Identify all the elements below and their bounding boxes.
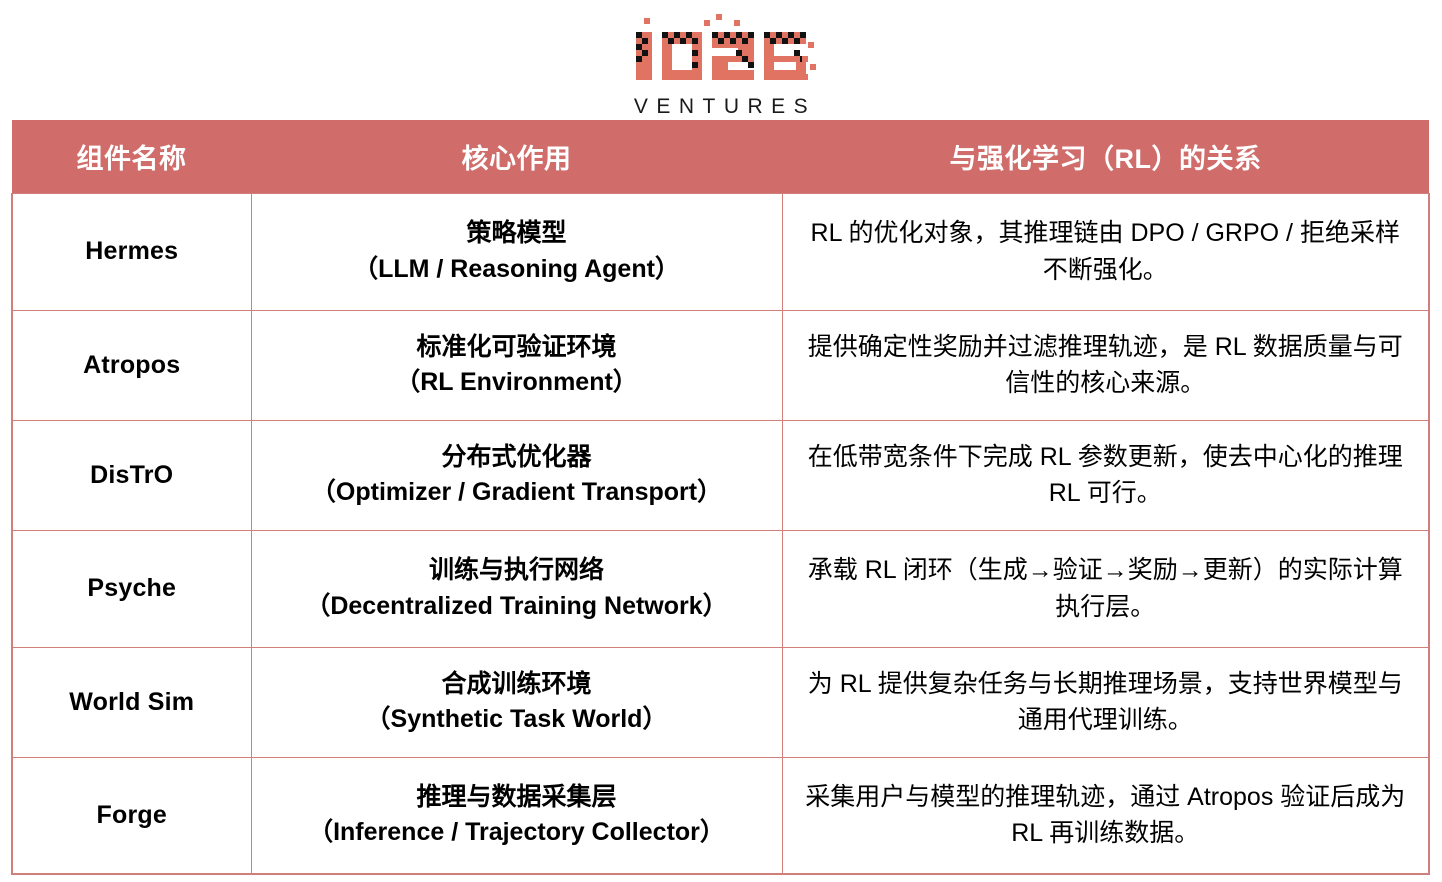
role-english: （RL Environment） xyxy=(266,365,768,401)
components-table-wrapper: 组件名称 核心作用 与强化学习（RL）的关系 Hermes 策略模型 （LLM … xyxy=(11,120,1428,875)
cell-component-name: Forge xyxy=(12,757,251,874)
role-chinese: 分布式优化器 xyxy=(266,440,768,476)
cell-component-name: DisTrO xyxy=(12,420,251,530)
components-table: 组件名称 核心作用 与强化学习（RL）的关系 Hermes 策略模型 （LLM … xyxy=(11,120,1430,875)
table-row: Forge 推理与数据采集层 （Inference / Trajectory C… xyxy=(12,757,1429,874)
role-chinese: 策略模型 xyxy=(266,216,768,252)
cell-rl-relation: 承载 RL 闭环（生成→验证→奖励→更新）的实际计算执行层。 xyxy=(782,530,1429,647)
role-chinese: 标准化可验证环境 xyxy=(266,330,768,366)
cell-rl-relation: 提供确定性奖励并过滤推理轨迹，是 RL 数据质量与可信性的核心来源。 xyxy=(782,310,1429,420)
column-header-core-role: 核心作用 xyxy=(251,120,782,193)
column-header-component-name: 组件名称 xyxy=(12,120,251,193)
role-english: （Inference / Trajectory Collector） xyxy=(266,815,768,851)
role-english: （Synthetic Task World） xyxy=(266,702,768,738)
role-chinese: 合成训练环境 xyxy=(266,667,768,703)
table-row: Psyche 训练与执行网络 （Decentralized Training N… xyxy=(12,530,1429,647)
iosg-logo-icon xyxy=(626,14,816,92)
role-english: （LLM / Reasoning Agent） xyxy=(266,252,768,288)
role-english: （Optimizer / Gradient Transport） xyxy=(266,475,768,511)
table-header-row: 组件名称 核心作用 与强化学习（RL）的关系 xyxy=(12,120,1429,193)
brand-header: VENTURES xyxy=(0,0,1442,118)
cell-component-name: Psyche xyxy=(12,530,251,647)
table-row: DisTrO 分布式优化器 （Optimizer / Gradient Tran… xyxy=(12,420,1429,530)
cell-core-role: 推理与数据采集层 （Inference / Trajectory Collect… xyxy=(251,757,782,874)
cell-rl-relation: 采集用户与模型的推理轨迹，通过 Atropos 验证后成为 RL 再训练数据。 xyxy=(782,757,1429,874)
cell-core-role: 分布式优化器 （Optimizer / Gradient Transport） xyxy=(251,420,782,530)
cell-component-name: Hermes xyxy=(12,193,251,310)
cell-core-role: 标准化可验证环境 （RL Environment） xyxy=(251,310,782,420)
cell-rl-relation: 在低带宽条件下完成 RL 参数更新，使去中心化的推理 RL 可行。 xyxy=(782,420,1429,530)
role-english: （Decentralized Training Network） xyxy=(266,589,768,625)
column-header-rl-relation: 与强化学习（RL）的关系 xyxy=(782,120,1429,193)
table-head: 组件名称 核心作用 与强化学习（RL）的关系 xyxy=(12,120,1429,193)
cell-core-role: 策略模型 （LLM / Reasoning Agent） xyxy=(251,193,782,310)
cell-core-role: 合成训练环境 （Synthetic Task World） xyxy=(251,647,782,757)
cell-component-name: World Sim xyxy=(12,647,251,757)
cell-component-name: Atropos xyxy=(12,310,251,420)
table-row: World Sim 合成训练环境 （Synthetic Task World） … xyxy=(12,647,1429,757)
cell-core-role: 训练与执行网络 （Decentralized Training Network） xyxy=(251,530,782,647)
table-row: Atropos 标准化可验证环境 （RL Environment） 提供确定性奖… xyxy=(12,310,1429,420)
role-chinese: 训练与执行网络 xyxy=(266,553,768,589)
cell-rl-relation: 为 RL 提供复杂任务与长期推理场景，支持世界模型与通用代理训练。 xyxy=(782,647,1429,757)
page-root: VENTURES 组件名称 核心作用 与强化学习（RL）的关系 Hermes 策… xyxy=(0,0,1442,882)
brand-wordmark: VENTURES xyxy=(626,96,816,117)
role-chinese: 推理与数据采集层 xyxy=(266,780,768,816)
table-body: Hermes 策略模型 （LLM / Reasoning Agent） RL 的… xyxy=(12,193,1429,874)
table-row: Hermes 策略模型 （LLM / Reasoning Agent） RL 的… xyxy=(12,193,1429,310)
cell-rl-relation: RL 的优化对象，其推理链由 DPO / GRPO / 拒绝采样不断强化。 xyxy=(782,193,1429,310)
